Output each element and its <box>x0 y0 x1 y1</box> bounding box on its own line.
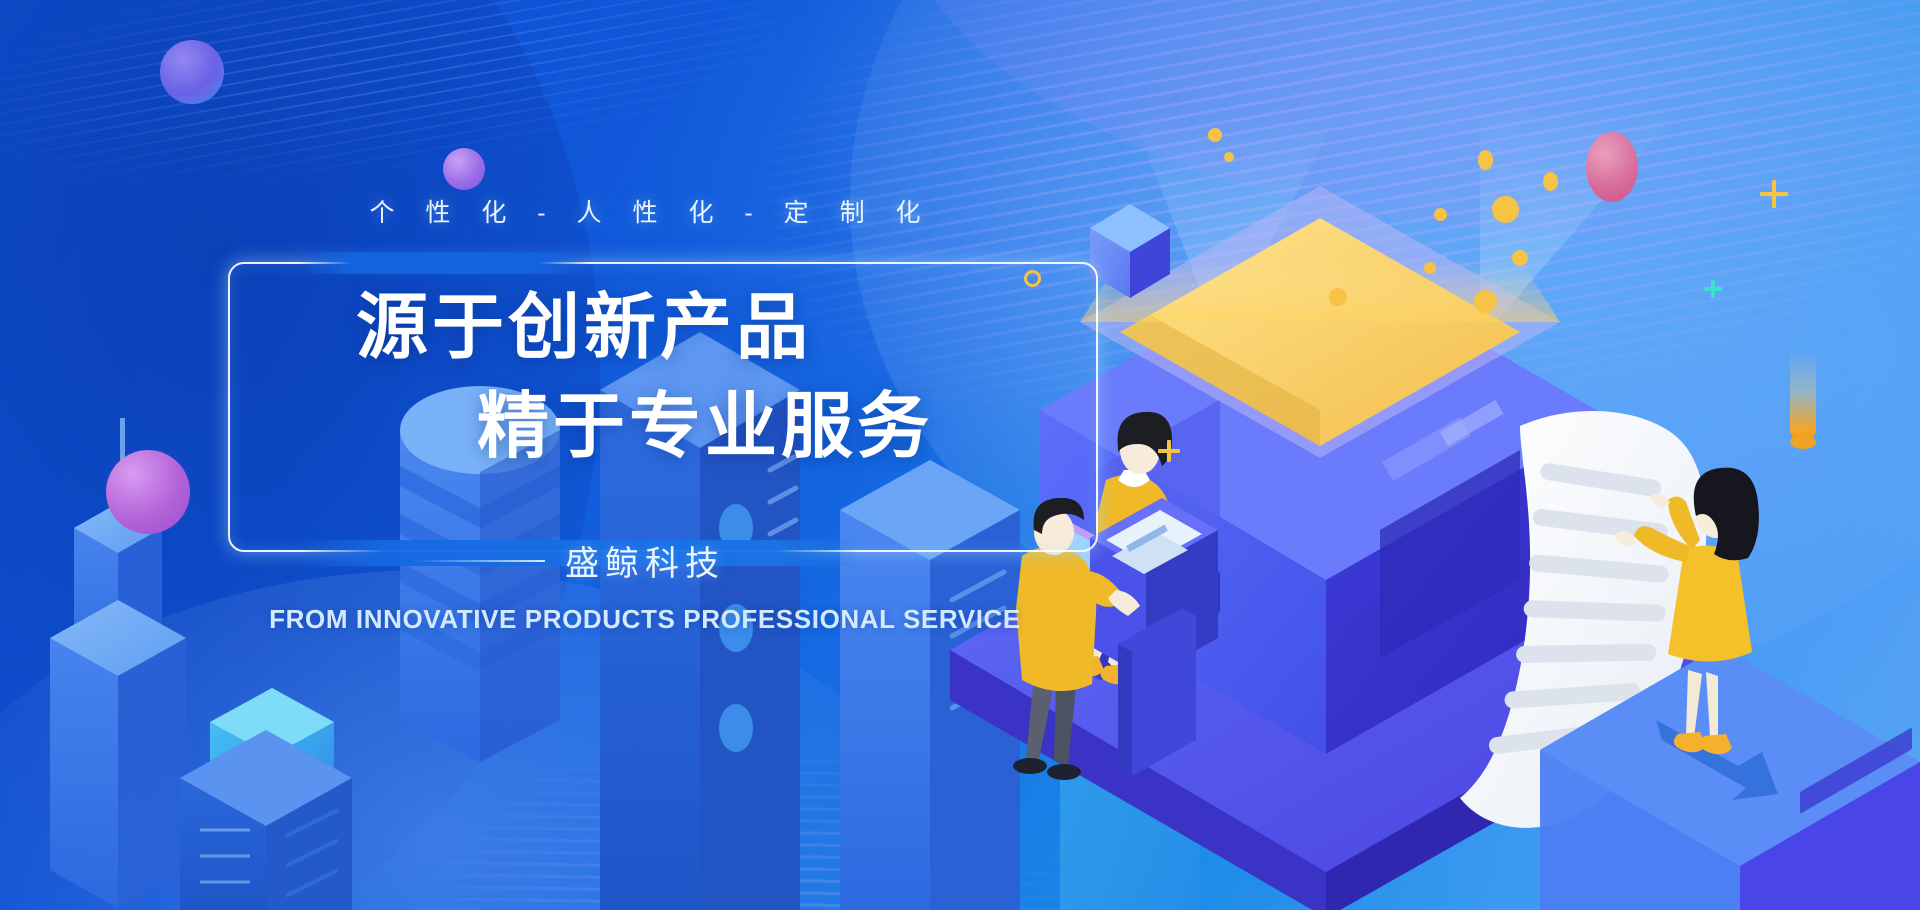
promo-banner: 个 性 化 - 人 性 化 - 定 制 化 源于创新产品 精于专业服务 盛鲸科技… <box>0 0 1920 910</box>
company-name: 盛鲸科技 <box>565 536 725 585</box>
headline-line-2: 精于专业服务 <box>120 385 1290 470</box>
banner-subtitle-en: FROM INNOVATIVE PRODUCTS PROFESSIONAL SE… <box>0 604 1290 635</box>
company-name-row: 盛鲸科技 <box>0 536 1290 585</box>
violet-ball-top-left <box>160 40 224 104</box>
headline-block: 源于创新产品 精于专业服务 <box>0 286 1290 470</box>
headline-line-1: 源于创新产品 <box>0 286 1290 371</box>
purple-ball-tagline <box>443 148 485 190</box>
banner-tagline: 个 性 化 - 人 性 化 - 定 制 化 <box>0 193 1290 229</box>
building-spire <box>50 418 186 908</box>
company-rule-left <box>413 560 545 562</box>
company-rule-right <box>745 560 877 562</box>
headline-frame-gap-top <box>300 252 590 274</box>
